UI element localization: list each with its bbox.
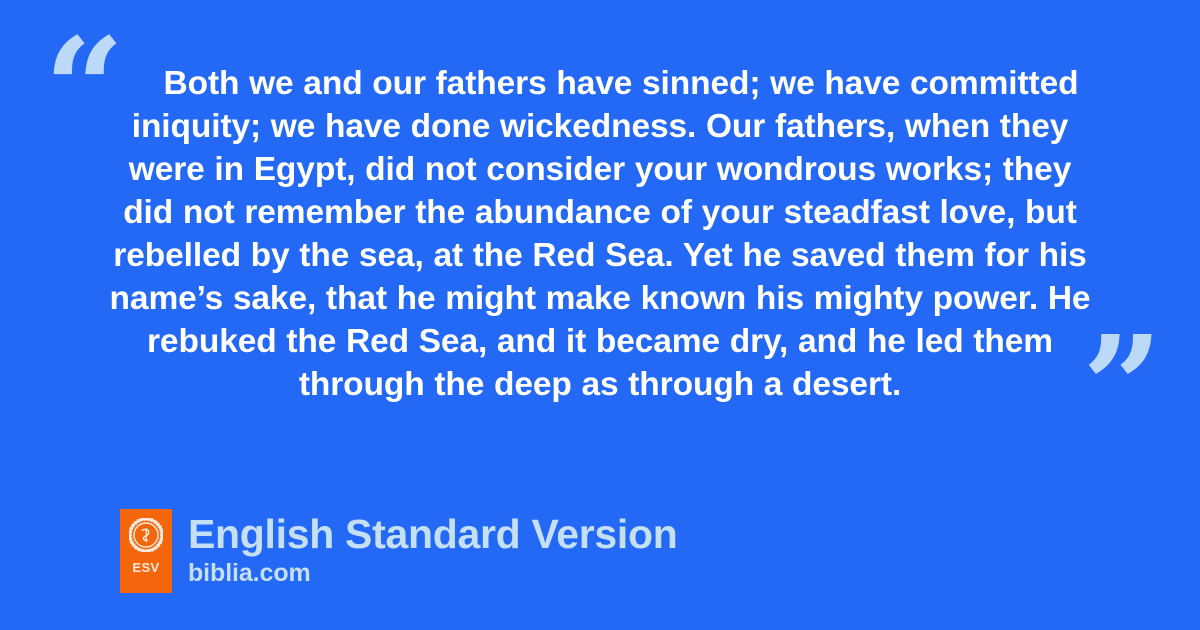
quote-block: Both we and our fathers have sinned; we … — [104, 62, 1096, 406]
esv-logo: ESV — [120, 509, 172, 593]
esv-logo-label: ESV — [132, 561, 159, 574]
attribution: ESV English Standard Version biblia.com — [120, 509, 677, 593]
attribution-text: English Standard Version biblia.com — [188, 509, 677, 588]
quote-card: “ Both we and our fathers have sinned; w… — [0, 0, 1200, 630]
site-url[interactable]: biblia.com — [188, 558, 677, 588]
bible-version-title: English Standard Version — [188, 511, 677, 557]
esv-seal-icon — [129, 518, 163, 552]
quote-text: Both we and our fathers have sinned; we … — [104, 62, 1096, 406]
closing-quote-mark-icon: ” — [1082, 318, 1163, 458]
